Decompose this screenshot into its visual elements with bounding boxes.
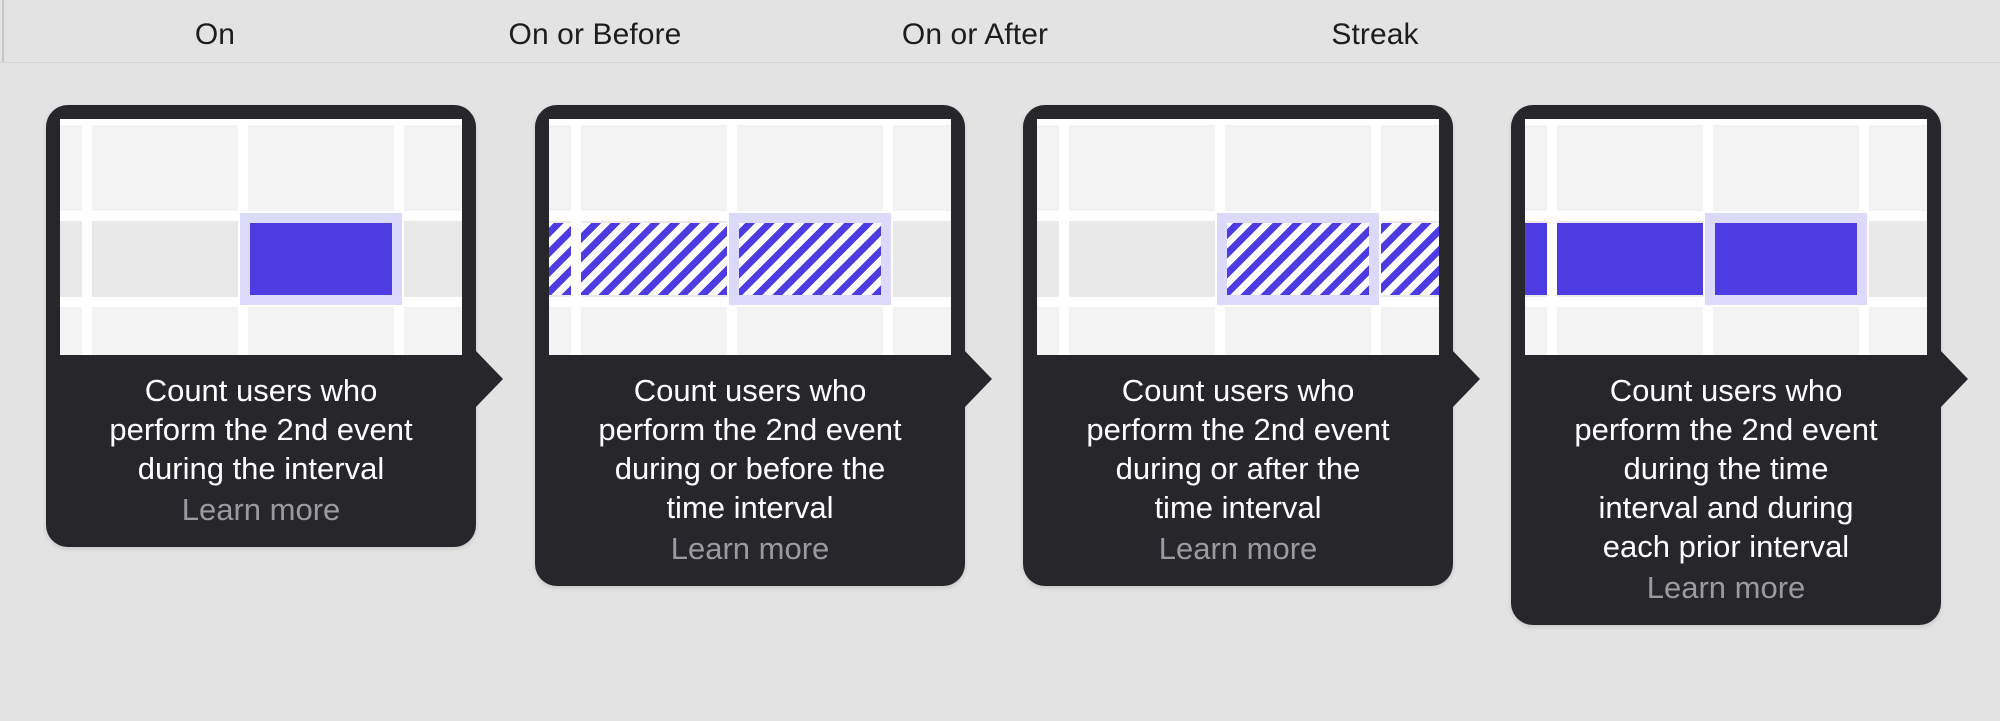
event-block-solid-current (1715, 223, 1857, 295)
column-header-on: On (130, 18, 300, 52)
event-block-hatch-prior-1 (581, 223, 727, 295)
event-block-hatch-current (739, 223, 881, 295)
card-on-thumbnail (60, 119, 462, 355)
column-headers: On On or Before On or After Streak (0, 0, 2000, 62)
column-header-streak: Streak (1260, 18, 1490, 52)
card-on-or-after-thumbnail (1037, 119, 1439, 355)
card-on-or-after-description: Count users who perform the 2nd event du… (1037, 355, 1439, 527)
header-divider (0, 62, 2000, 63)
event-block-hatch-current (1227, 223, 1369, 295)
card-streak-arrow-icon (1940, 350, 1968, 408)
event-block-solid-prior-1 (1557, 223, 1703, 295)
card-on-arrow-icon (475, 350, 503, 408)
card-on-learn-more-link[interactable]: Learn more (60, 488, 462, 529)
card-streak[interactable]: Count users who perform the 2nd event du… (1511, 105, 1941, 625)
event-block-hatch-prior-0 (549, 223, 571, 295)
card-streak-thumbnail (1525, 119, 1927, 355)
card-streak-learn-more-link[interactable]: Learn more (1525, 566, 1927, 607)
card-streak-description: Count users who perform the 2nd event du… (1525, 355, 1927, 566)
card-on-or-before-learn-more-link[interactable]: Learn more (549, 527, 951, 568)
comparison-panel: On On or Before On or After Streak (0, 0, 2000, 721)
event-block-hatch-next-0 (1381, 223, 1439, 295)
column-header-on-or-before: On or Before (465, 18, 725, 52)
card-on-description: Count users who perform the 2nd event du… (60, 355, 462, 488)
card-on-or-before-arrow-icon (964, 350, 992, 408)
card-on-or-after-learn-more-link[interactable]: Learn more (1037, 527, 1439, 568)
card-on[interactable]: Count users who perform the 2nd event du… (46, 105, 476, 547)
card-on-or-after[interactable]: Count users who perform the 2nd event du… (1023, 105, 1453, 586)
card-on-or-before-thumbnail (549, 119, 951, 355)
event-block-solid (250, 223, 392, 295)
card-on-or-after-arrow-icon (1452, 350, 1480, 408)
event-block-solid-prior-0 (1525, 223, 1547, 295)
column-header-on-or-after: On or After (850, 18, 1100, 52)
card-on-or-before[interactable]: Count users who perform the 2nd event du… (535, 105, 965, 586)
card-on-or-before-description: Count users who perform the 2nd event du… (549, 355, 951, 527)
